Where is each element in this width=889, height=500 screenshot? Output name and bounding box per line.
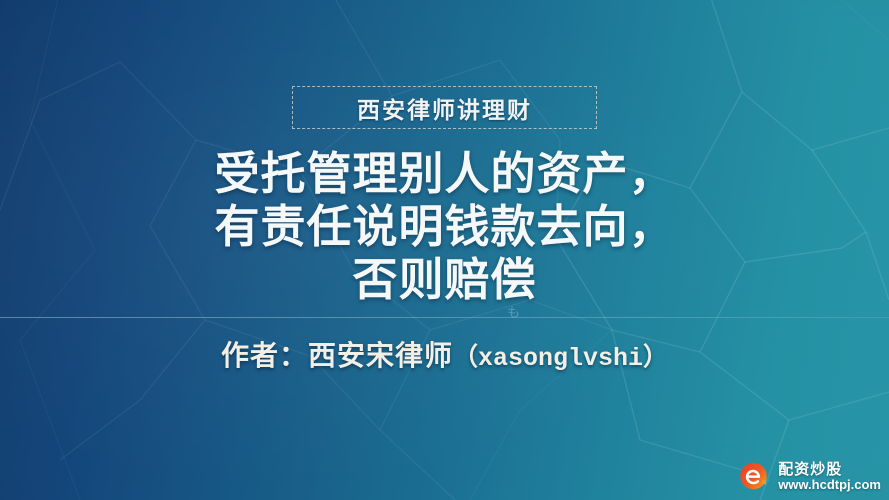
author-line: 作者：西安宋律师（xasonglvshi）	[0, 334, 889, 374]
presentation-slide: 西安律师讲理财 受托管理别人的资产， 有责任说明钱款去向， 否则赔偿 も 作者：…	[0, 0, 889, 500]
watermark-text-block: 配资炒股 www.hcdtpj.com	[778, 462, 881, 491]
title-badge: 西安律师讲理财	[292, 86, 597, 129]
author-label: 作者：西安宋律师	[221, 341, 453, 372]
headline-line-2: 有责任说明钱款去向，	[0, 200, 889, 253]
headline: 受托管理别人的资产， 有责任说明钱款去向， 否则赔偿	[0, 147, 889, 306]
watermark-brand-name: 配资炒股	[778, 462, 881, 478]
watermark-url: www.hcdtpj.com	[778, 478, 881, 492]
headline-line-3: 否则赔偿	[0, 253, 889, 306]
site-watermark: 配资炒股 www.hcdtpj.com	[738, 460, 881, 494]
title-badge-label: 西安律师讲理财	[357, 91, 532, 125]
horizontal-divider	[0, 317, 889, 318]
brand-e-logo-icon	[738, 460, 772, 494]
author-handle: （xasonglvshi）	[453, 344, 668, 373]
headline-line-1: 受托管理别人的资产，	[0, 147, 889, 200]
